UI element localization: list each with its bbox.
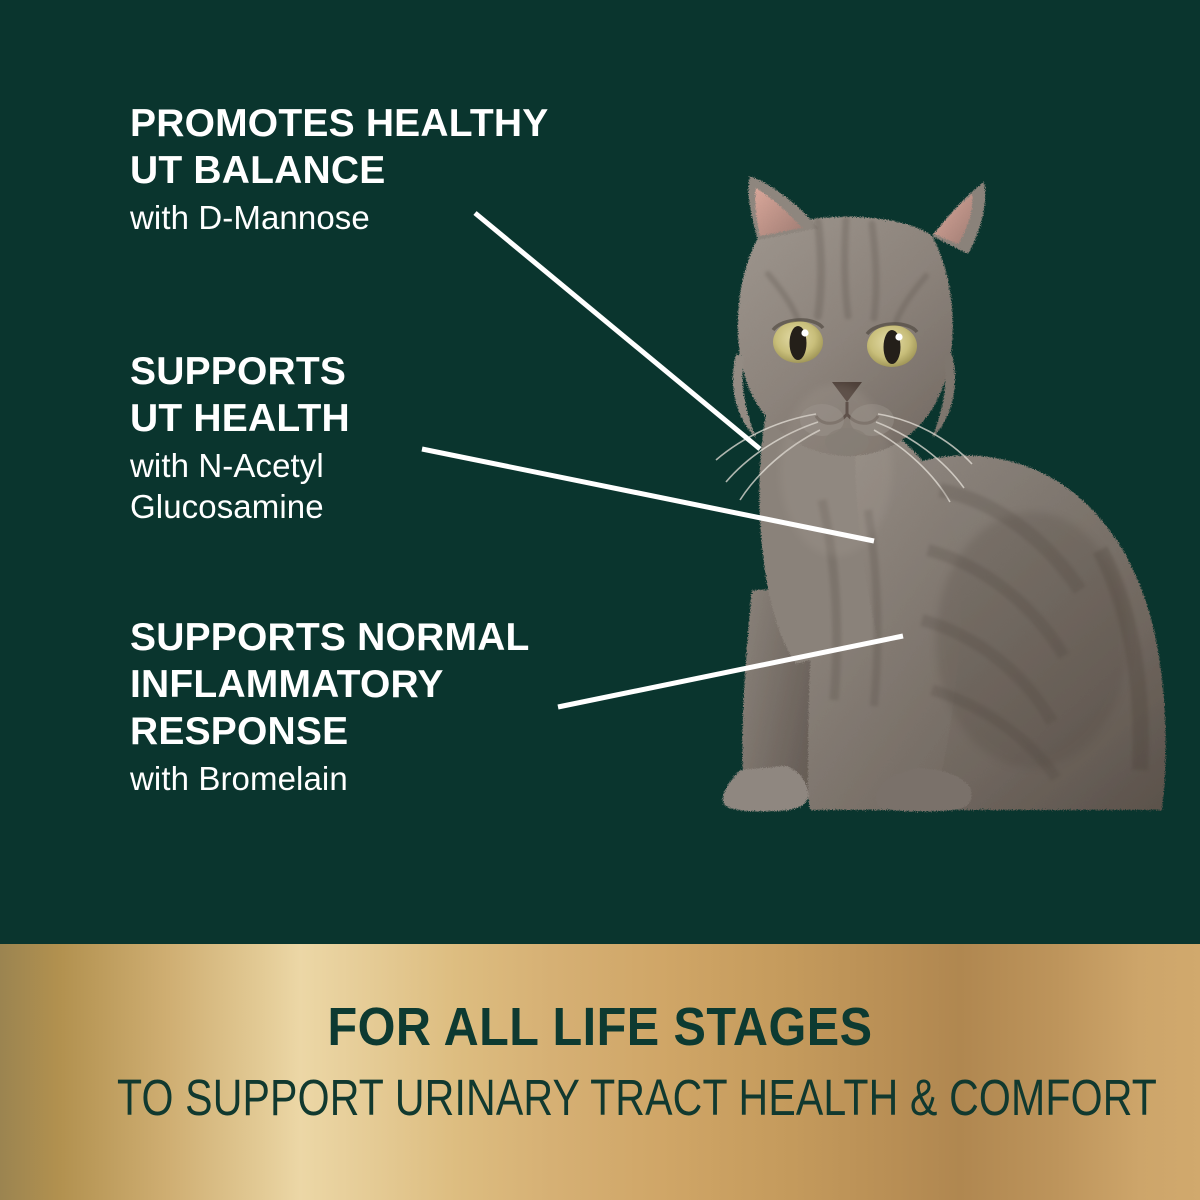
claim-headline: SUPPORTS UT HEALTH [130,348,350,442]
claim-subtext: with D-Mannose [130,197,549,238]
claim-headline: PROMOTES HEALTHY UT BALANCE [130,100,549,194]
claim-block-ut-health: SUPPORTS UT HEALTH with N-Acetyl Glucosa… [130,348,350,527]
claim-headline: SUPPORTS NORMAL INFLAMMATORY RESPONSE [130,614,530,755]
claim-subtext: with Bromelain [130,758,530,799]
footer-content: FOR ALL LIFE STAGES TO SUPPORT URINARY T… [0,944,1200,1200]
footer-headline: FOR ALL LIFE STAGES [60,998,1140,1056]
footer-subline: TO SUPPORT URINARY TRACT HEALTH & COMFOR… [117,1070,1083,1126]
claim-subtext: with N-Acetyl Glucosamine [130,445,350,527]
gold-footer-band: FOR ALL LIFE STAGES TO SUPPORT URINARY T… [0,944,1200,1200]
leader-line-ut-balance [475,213,760,449]
claim-block-inflammatory-response: SUPPORTS NORMAL INFLAMMATORY RESPONSE wi… [130,614,530,799]
infographic-canvas: PROMOTES HEALTHY UT BALANCE with D-Manno… [0,0,1200,1200]
leader-line-inflammatory [558,636,903,707]
leader-line-ut-health [422,449,874,541]
claim-block-ut-balance: PROMOTES HEALTHY UT BALANCE with D-Manno… [130,100,549,238]
